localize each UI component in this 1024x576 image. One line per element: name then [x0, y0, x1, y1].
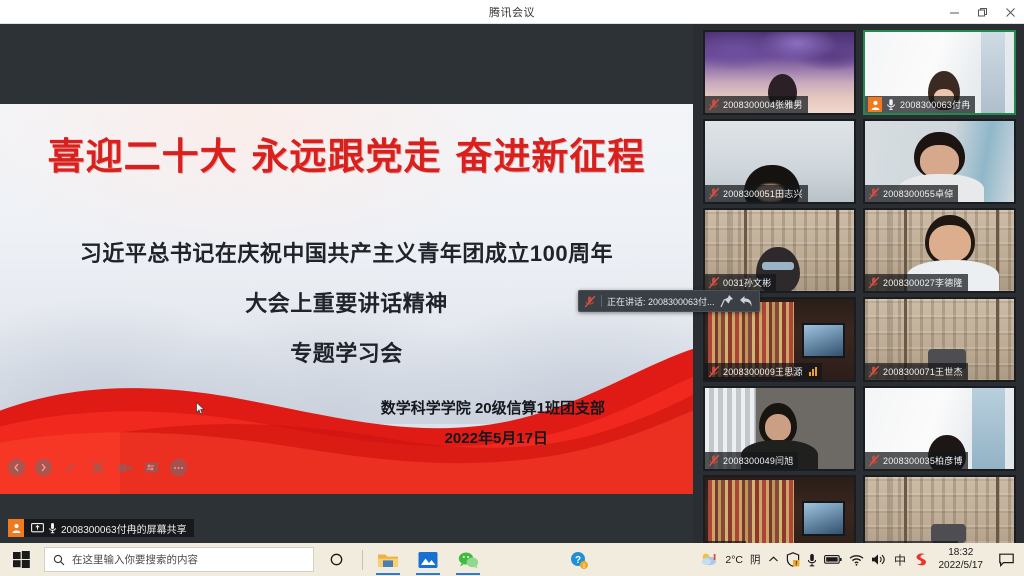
mic-muted-icon: [708, 98, 720, 111]
slide-date: 2022年5月17日: [445, 427, 548, 448]
participant-name: 2008300004张雅男: [723, 98, 803, 111]
presenter-video-button[interactable]: [116, 459, 133, 476]
participant-row: 2008300004张雅男: [703, 30, 1016, 115]
taskbar-search-placeholder: 在这里输入你要搜索的内容: [72, 552, 198, 567]
chinese-ime-icon[interactable]: 中: [893, 553, 907, 567]
participant-label: 2008300071王世杰: [865, 363, 968, 380]
battery-icon[interactable]: [824, 554, 842, 565]
help-question-icon: ? !: [570, 551, 588, 569]
speaking-toast-text: 正在讲话: 2008300063付...: [607, 295, 715, 308]
wechat-taskbar-button[interactable]: [451, 544, 485, 575]
ellipsis-icon: [173, 466, 184, 470]
participant-tile[interactable]: 0031孙文彬: [703, 208, 856, 293]
participant-tile[interactable]: 2008300055卓倬: [863, 119, 1016, 204]
cortana-circle-icon: [330, 553, 343, 566]
running-indicator: [416, 573, 440, 575]
svg-text:中: 中: [893, 553, 905, 567]
notification-icon: [999, 553, 1014, 567]
participant-row: 2008300051田志兴 2008300055卓倬: [703, 119, 1016, 204]
presenter-toolbar: [8, 459, 187, 476]
slides-icon: [144, 461, 159, 474]
tray-temperature: 2°C: [725, 554, 743, 566]
mouse-cursor: [196, 402, 205, 415]
system-tray: 2°C 阴 !: [701, 543, 1024, 576]
mic-muted-icon: [708, 187, 720, 200]
more-options-button[interactable]: [170, 459, 187, 476]
participant-label: 2008300027李德隆: [865, 274, 968, 291]
help-taskbar-button[interactable]: ? !: [570, 551, 588, 569]
taskbar-search-box[interactable]: 在这里输入你要搜索的内容: [44, 547, 314, 572]
cortana-button[interactable]: [314, 553, 358, 566]
mic-muted-icon: [584, 295, 596, 308]
participant-tile[interactable]: 2008300035柏彦博: [863, 386, 1016, 471]
notification-center-button[interactable]: [994, 553, 1018, 567]
slide-subtitle-line-3: 专题学习会: [0, 336, 693, 368]
next-slide-button[interactable]: [35, 459, 52, 476]
participant-tile[interactable]: 2008300071王世杰: [863, 297, 1016, 382]
shared-screen-area[interactable]: 喜迎二十大 永远跟党走 奋进新征程 习近平总书记在庆祝中国共产主义青年团成立10…: [0, 24, 693, 543]
close-button[interactable]: [996, 0, 1024, 24]
participant-name: 2008300009王思源: [723, 365, 803, 378]
slide-headline: 喜迎二十大 永远跟党走 奋进新征程: [0, 126, 693, 180]
meeting-window-body: 喜迎二十大 永远跟党走 奋进新征程 习近平总书记在庆祝中国共产主义青年团成立10…: [0, 24, 1024, 543]
participant-tile[interactable]: 2008300051田志兴: [703, 119, 856, 204]
tray-overflow-button[interactable]: [768, 554, 779, 565]
participant-name: 0031孙文彬: [723, 276, 771, 289]
window-controls: [940, 0, 1024, 24]
mic-muted-icon: [708, 276, 720, 289]
windows-logo-icon: [13, 551, 30, 568]
participant-label: 2008300004张雅男: [705, 96, 808, 113]
window-title-bar: 腾讯会议: [0, 0, 1024, 24]
security-shield-icon[interactable]: !: [786, 552, 800, 567]
participant-label: 2008300035柏彦博: [865, 452, 968, 469]
wechat-icon: [458, 551, 479, 569]
speaker-icon[interactable]: [871, 553, 886, 566]
folder-icon: [377, 551, 399, 569]
mic-muted-icon: [868, 454, 880, 467]
clock-date: 2022/5/17: [939, 560, 984, 573]
taskbar-clock[interactable]: 18:32 2022/5/17: [939, 547, 984, 572]
participant-label: 2008300063付冉: [865, 96, 975, 113]
chevron-left-icon: [12, 463, 21, 472]
pen-annotate-button[interactable]: [62, 459, 79, 476]
participant-name: 2008300071王世杰: [883, 365, 963, 378]
pen-icon: [63, 460, 78, 475]
chevron-up-icon: [768, 554, 779, 565]
participant-label: 2008300049闫旭: [705, 452, 798, 469]
volume-indicator-icon: [809, 367, 817, 376]
participant-tile[interactable]: 2008300049闫旭: [703, 386, 856, 471]
participant-tile[interactable]: 2008300004张雅男: [703, 30, 856, 115]
taskbar-divider: [362, 550, 363, 570]
host-icon: [868, 97, 882, 112]
share-status-bar: 2008300063付冉的屏幕共享: [8, 519, 194, 537]
wifi-icon[interactable]: [849, 554, 864, 566]
screen-share-icon: [31, 523, 44, 534]
participant-label: 2008300055卓倬: [865, 185, 958, 202]
reply-icon[interactable]: [739, 295, 753, 308]
restore-icon: [977, 7, 988, 18]
minimize-button[interactable]: [940, 0, 968, 24]
previous-slide-button[interactable]: [8, 459, 25, 476]
participant-label: 2008300051田志兴: [705, 185, 808, 202]
participant-label: 0031孙文彬: [705, 274, 776, 291]
share-status-text: 2008300063付冉的屏幕共享: [61, 521, 187, 536]
weather-cloudy-icon[interactable]: [701, 552, 718, 567]
pin-icon[interactable]: [720, 294, 734, 308]
mic-muted-icon: [868, 276, 880, 289]
slide-navigator-button[interactable]: [143, 459, 160, 476]
participant-name: 2008300035柏彦博: [883, 454, 963, 467]
participant-tile-active-speaker[interactable]: 2008300063付冉: [863, 30, 1016, 115]
clock-time: 18:32: [939, 547, 984, 560]
photos-taskbar-button[interactable]: [411, 544, 445, 575]
mic-muted-icon: [708, 365, 720, 378]
mic-muted-icon: [708, 454, 720, 467]
window-title: 腾讯会议: [489, 4, 535, 20]
participant-name: 2008300027李德隆: [883, 276, 963, 289]
search-icon: [53, 554, 65, 566]
slide-subtitle-line-1: 习近平总书记在庆祝中国共产主义青年团成立100周年: [0, 236, 693, 268]
mic-icon: [885, 98, 897, 111]
running-indicator: [376, 573, 400, 575]
participant-name: 2008300063付冉: [900, 98, 970, 111]
host-icon: [8, 519, 24, 537]
participant-tile[interactable]: 2008300027李德隆: [863, 208, 1016, 293]
tray-weather-condition: 阴: [750, 552, 761, 567]
mic-muted-icon: [868, 365, 880, 378]
svg-text:!: !: [795, 561, 797, 567]
minimize-icon: [949, 7, 960, 18]
mic-icon: [48, 522, 57, 534]
microphone-icon[interactable]: [807, 553, 817, 567]
participant-grid[interactable]: 2008300004张雅男: [693, 24, 1024, 543]
file-explorer-taskbar-button[interactable]: [371, 544, 405, 575]
participant-name: 2008300049闫旭: [723, 454, 793, 467]
spotlight-icon: [90, 460, 105, 475]
video-icon: [117, 462, 133, 474]
speaking-toast: 正在讲话: 2008300063付...: [578, 290, 760, 312]
running-indicator: [456, 573, 480, 575]
start-button[interactable]: [0, 543, 42, 576]
participant-label: 2008300009王思源: [705, 363, 822, 380]
slide-organization: 数学科学学院 20级信算1班团支部: [381, 397, 605, 418]
taskbar-app-buttons: [371, 544, 485, 575]
close-icon: [1005, 7, 1016, 18]
participant-name: 2008300055卓倬: [883, 187, 953, 200]
spotlight-button[interactable]: [89, 459, 106, 476]
participant-row: 2008300049闫旭 2008300035柏彦博: [703, 386, 1016, 471]
svg-text:!: !: [583, 564, 585, 569]
sogou-icon[interactable]: [914, 552, 928, 567]
chevron-right-icon: [39, 463, 48, 472]
windows-taskbar: 在这里输入你要搜索的内容: [0, 543, 1024, 576]
restore-button[interactable]: [968, 0, 996, 24]
participant-name: 2008300051田志兴: [723, 187, 803, 200]
participant-row: 0031孙文彬 2008300027李德隆: [703, 208, 1016, 293]
photos-icon: [418, 551, 438, 569]
mic-muted-icon: [868, 187, 880, 200]
